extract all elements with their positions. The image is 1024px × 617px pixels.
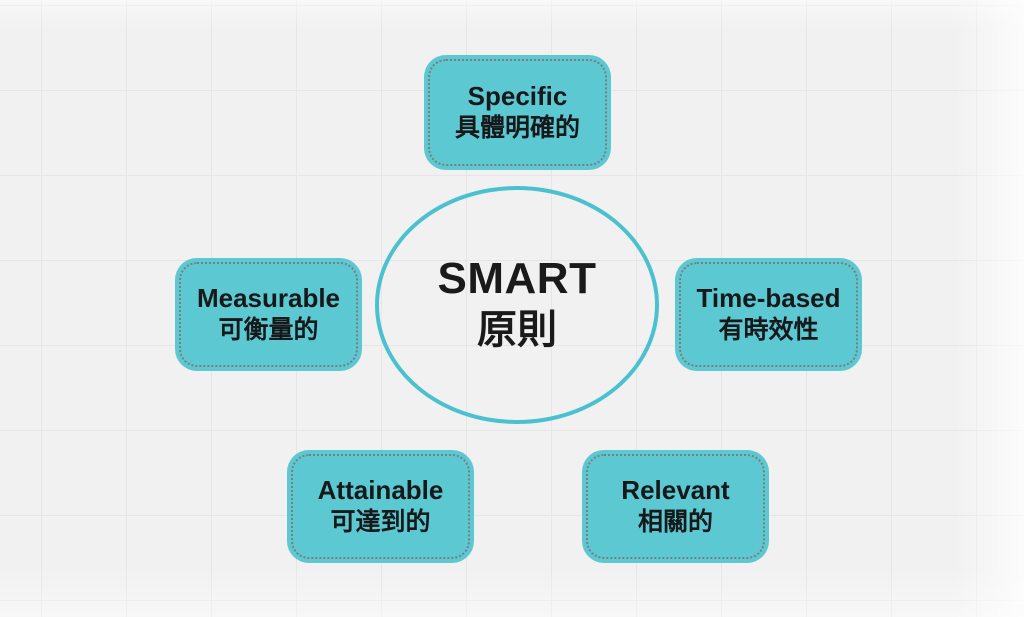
node-label-zh: 具體明確的 bbox=[455, 113, 580, 143]
node-label-en: Attainable bbox=[318, 476, 444, 505]
center-circle-node[interactable]: SMART 原則 bbox=[375, 186, 659, 424]
center-subtitle: 原則 bbox=[477, 306, 557, 354]
node-label-en: Measurable bbox=[197, 284, 340, 313]
right-fade-overlay bbox=[954, 0, 1024, 617]
smart-principle-diagram: SMART 原則 Specific 具體明確的 Measurable 可衡量的 … bbox=[0, 0, 1024, 617]
node-label-zh: 可達到的 bbox=[330, 507, 430, 537]
node-attainable[interactable]: Attainable 可達到的 bbox=[287, 450, 474, 563]
node-relevant[interactable]: Relevant 相關的 bbox=[582, 450, 769, 563]
node-time-based[interactable]: Time-based 有時效性 bbox=[675, 258, 862, 371]
node-label-zh: 有時效性 bbox=[718, 315, 818, 345]
node-label-en: Time-based bbox=[696, 284, 840, 313]
node-label-en: Specific bbox=[468, 82, 568, 111]
top-fade-overlay bbox=[0, 0, 1024, 30]
node-measurable[interactable]: Measurable 可衡量的 bbox=[175, 258, 362, 371]
node-label-zh: 相關的 bbox=[638, 507, 713, 537]
node-specific[interactable]: Specific 具體明確的 bbox=[424, 55, 611, 170]
node-label-zh: 可衡量的 bbox=[218, 315, 318, 345]
node-label-en: Relevant bbox=[621, 476, 729, 505]
center-title: SMART bbox=[438, 256, 597, 302]
bottom-fade-overlay bbox=[0, 567, 1024, 617]
